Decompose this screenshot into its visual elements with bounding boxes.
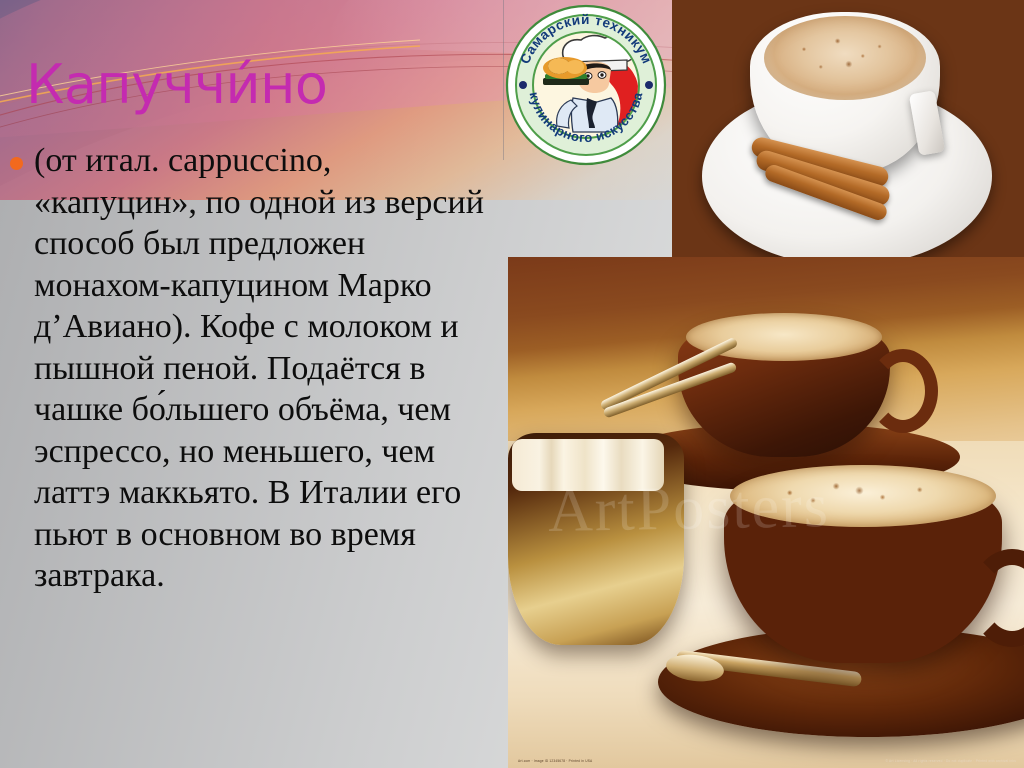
painting-credit-left: Art.com · Image ID 12345678 · Printed in…: [518, 759, 592, 763]
vertical-hairline-divider: [503, 0, 504, 160]
presentation-slide: Капуччи́но (от итал. cappuccino, «капуци…: [0, 0, 1024, 768]
page-title: Капуччи́но: [26, 55, 327, 115]
bullet-dot-icon: [10, 157, 23, 170]
body-paragraph: (от итал. cappuccino, «капуцин», по одно…: [34, 140, 484, 597]
bullet-list-item: (от итал. cappuccino, «капуцин», по одно…: [10, 140, 490, 597]
cappuccino-cinnamon-photo: [672, 0, 1024, 258]
emblem-dot-right: [645, 81, 653, 89]
sugar-cubes: [512, 439, 664, 491]
college-emblem-logo: Самарский техникум кулинарного искусства: [505, 4, 667, 166]
emblem-dot-left: [519, 81, 527, 89]
cappuccino-painting: ArtPosters Art.com · Image ID 12345678 ·…: [508, 257, 1024, 768]
front-cup-foam: [730, 465, 996, 527]
foam-cinnamon-sprinkle: [776, 22, 916, 90]
painting-credit-right: © Art Licensing · All rights reserved · …: [886, 759, 1016, 763]
cup-foam: [764, 16, 926, 100]
back-cup-handle: [868, 349, 938, 433]
front-foam-cinnamon-sprinkle: [748, 473, 980, 517]
